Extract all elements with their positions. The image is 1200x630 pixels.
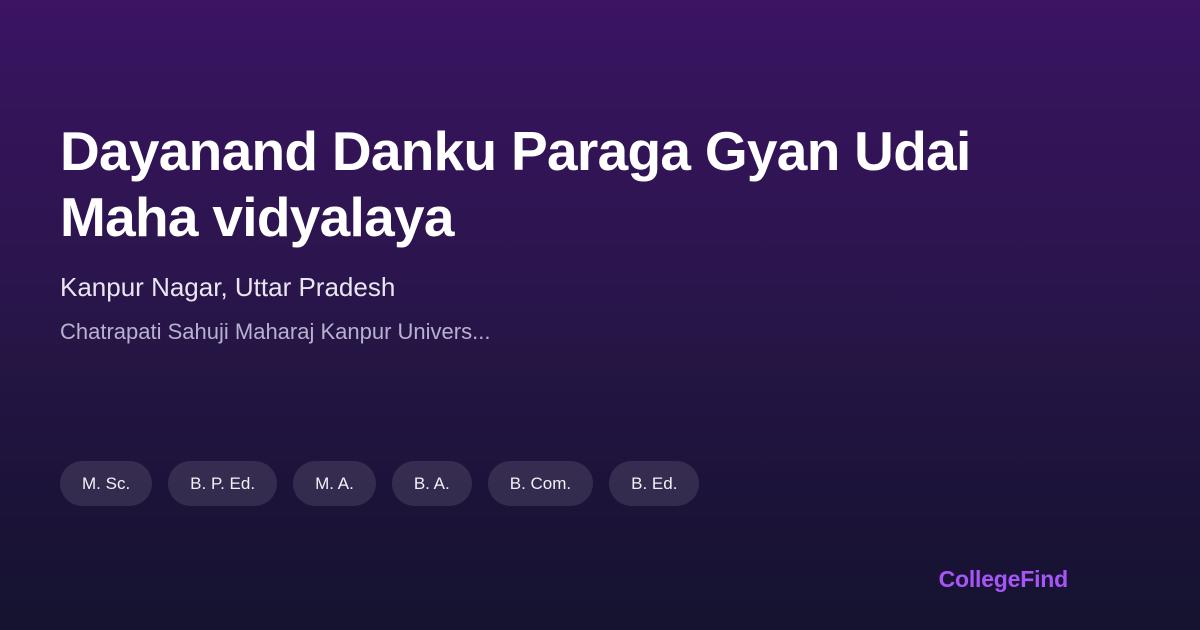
college-location: Kanpur Nagar, Uttar Pradesh	[60, 270, 1140, 304]
college-info-block: Dayanand Danku Paraga Gyan Udai Maha vid…	[60, 0, 1140, 347]
course-chip[interactable]: B. A.	[392, 461, 472, 506]
course-chip[interactable]: M. Sc.	[60, 461, 152, 506]
course-chip[interactable]: M. A.	[293, 461, 376, 506]
courses-list: M. Sc. B. P. Ed. M. A. B. A. B. Com. B. …	[60, 461, 699, 506]
page-title: Dayanand Danku Paraga Gyan Udai Maha vid…	[60, 118, 1120, 250]
college-og-card: Dayanand Danku Paraga Gyan Udai Maha vid…	[0, 0, 1200, 630]
course-chip[interactable]: B. Com.	[488, 461, 593, 506]
course-chip[interactable]: B. Ed.	[609, 461, 699, 506]
course-chip[interactable]: B. P. Ed.	[168, 461, 277, 506]
brand-logo: CollegeFind	[939, 568, 1068, 591]
affiliated-university: Chatrapati Sahuji Maharaj Kanpur Univers…	[60, 317, 1140, 347]
